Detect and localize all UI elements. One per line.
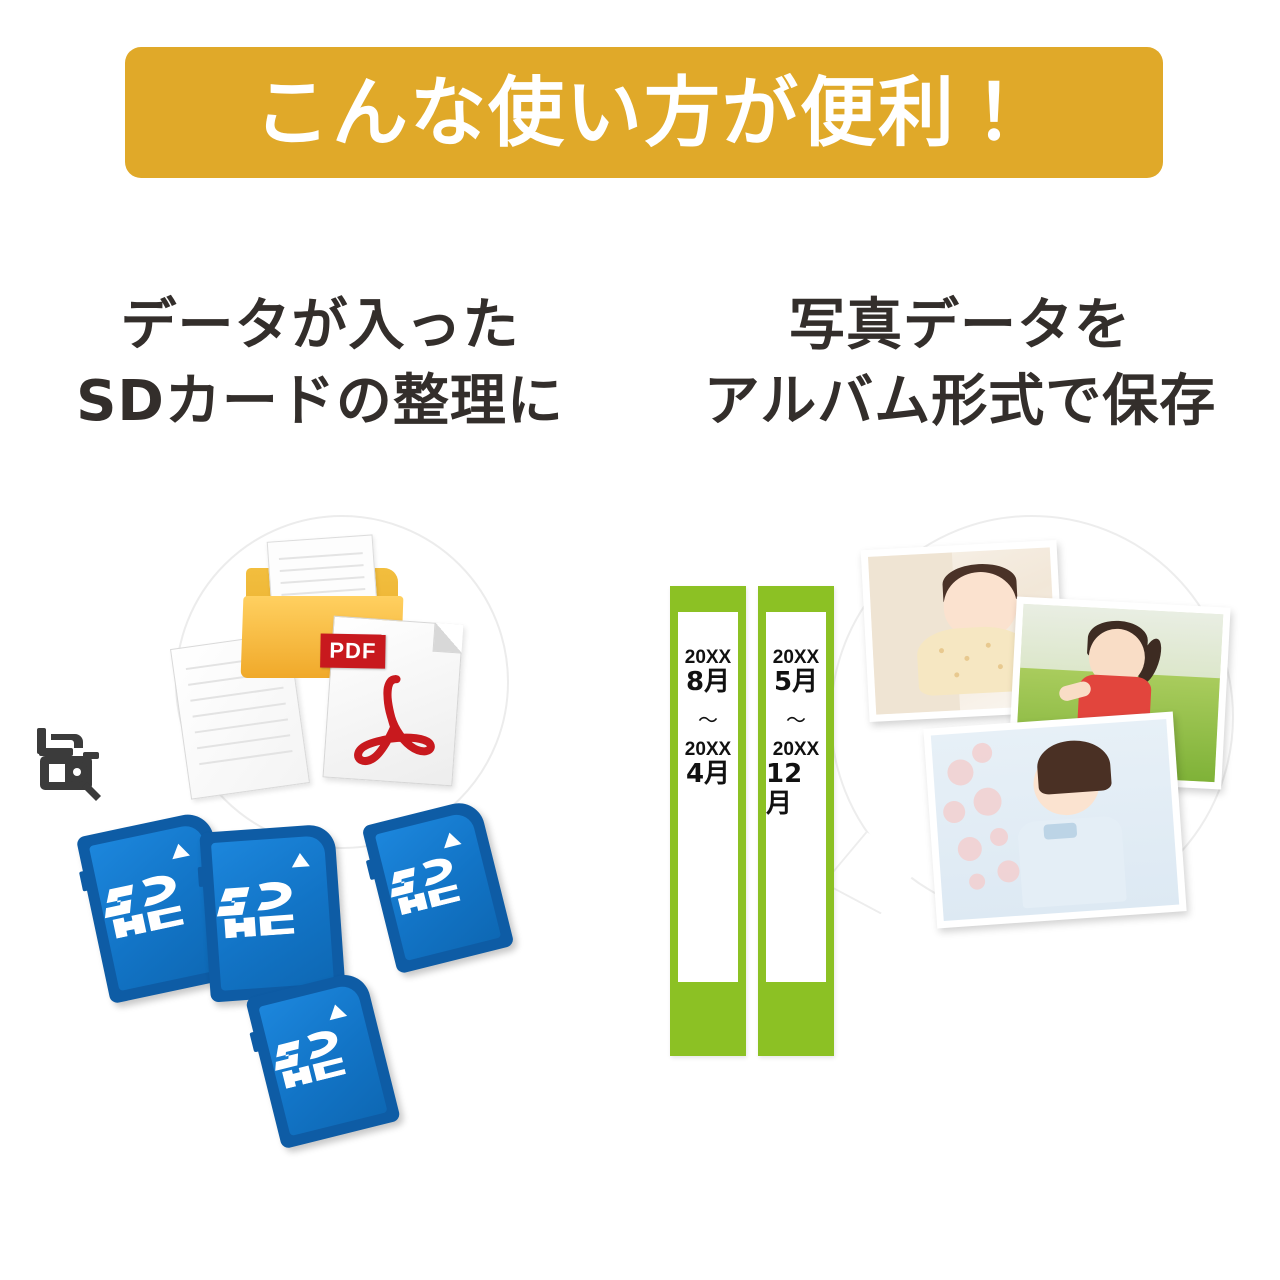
left-illustration: PDF <box>0 470 640 1150</box>
header-banner: こんな使い方が便利！ <box>125 47 1163 178</box>
acrobat-a-icon <box>344 668 443 774</box>
sd-card-2 <box>199 823 346 1002</box>
photo-girl-hair <box>1035 738 1112 795</box>
album-right-start-year: 20XX <box>773 648 819 668</box>
sd-card-body <box>245 970 401 1150</box>
album-spine-right: 20XX 5月 〜 20XX 12月 <box>758 586 834 1056</box>
heading-right-line1: 写真データを <box>789 288 1131 364</box>
heading-right-line2: アルバム形式で保存 <box>704 364 1216 440</box>
sd-card-body <box>199 823 346 1002</box>
sd-card-triangle-icon <box>441 830 462 848</box>
sd-card-notch <box>198 867 206 887</box>
heading-left-line2: SDカードの整理に <box>76 364 564 440</box>
sd-card-notch <box>79 871 90 892</box>
file-icons-cluster: PDF <box>180 550 480 810</box>
sd-card-body <box>361 798 514 975</box>
album-spine-left: 20XX 8月 〜 20XX 4月 <box>670 586 746 1056</box>
album-left-start-month: 8月 <box>686 668 730 698</box>
sd-card-face <box>258 983 387 1136</box>
heading-left-line1: データが入った <box>121 288 520 364</box>
right-illustration: 20XX 8月 〜 20XX 4月 20XX 5月 〜 20XX 12月 <box>640 470 1280 1150</box>
camera-icon <box>35 722 107 802</box>
sdhc-logo <box>97 866 203 941</box>
poster-root: こんな使い方が便利！ データが入った SDカードの整理に 写真データを アルバム… <box>0 0 1280 1280</box>
sd-card-face <box>375 811 502 961</box>
sd-card-triangle-icon <box>326 1002 347 1020</box>
pdf-badge: PDF <box>320 634 386 669</box>
album-right-end-month: 12月 <box>766 760 826 820</box>
heading-right: 写真データを アルバム形式で保存 <box>640 288 1280 468</box>
album-label-right: 20XX 5月 〜 20XX 12月 <box>766 612 826 982</box>
photo-girl-with-blossoms <box>923 712 1186 929</box>
page-fold-corner <box>433 623 464 654</box>
sd-card-triangle-icon <box>169 842 190 859</box>
photo-girl-ribbon <box>1043 822 1077 839</box>
album-left-end-month: 4月 <box>686 760 730 790</box>
sd-card-notch <box>366 859 378 880</box>
sdhc-logo <box>214 876 314 939</box>
sdhc-logo <box>267 1021 363 1090</box>
pdf-file-icon: PDF <box>323 616 464 787</box>
heading-left: データが入った SDカードの整理に <box>0 288 640 468</box>
album-label-left: 20XX 8月 〜 20XX 4月 <box>678 612 738 982</box>
album-left-start-year: 20XX <box>685 648 731 668</box>
album-left-end-year: 20XX <box>685 740 731 760</box>
sd-card-notch <box>249 1031 261 1052</box>
sd-card-triangle-icon <box>291 852 310 867</box>
sd-card-3 <box>361 798 514 975</box>
photo-girl-image <box>931 719 1179 921</box>
sdhc-logo <box>383 849 476 917</box>
album-right-start-month: 5月 <box>774 668 818 698</box>
album-right-end-year: 20XX <box>773 740 819 760</box>
sd-card-4 <box>245 970 401 1150</box>
album-right-separator: 〜 <box>786 710 806 730</box>
headings-row: データが入った SDカードの整理に 写真データを アルバム形式で保存 <box>0 288 1280 468</box>
album-left-separator: 〜 <box>698 710 718 730</box>
sd-card-face <box>211 835 334 991</box>
banner-title: こんな使い方が便利！ <box>254 75 1034 151</box>
